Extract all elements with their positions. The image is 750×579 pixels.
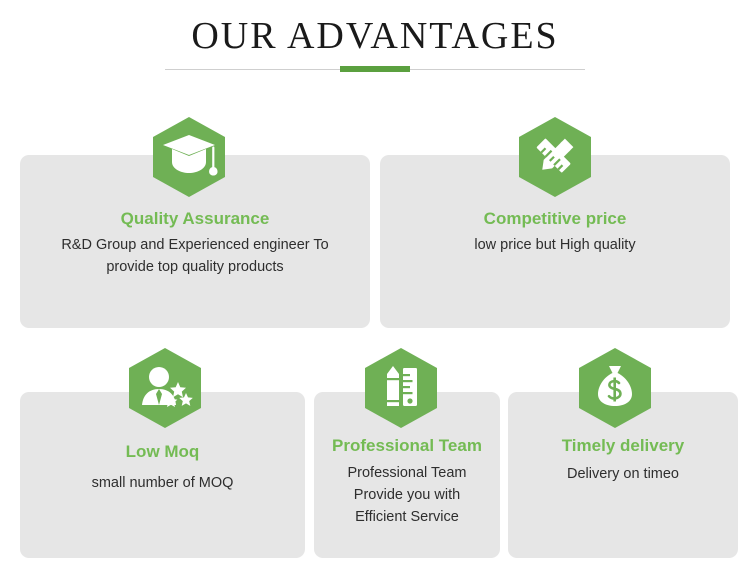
card-description-line: small number of MOQ (20, 472, 305, 494)
card-description-line: low price but High quality (380, 234, 730, 256)
card-title: Quality Assurance (20, 208, 370, 230)
card-description: Delivery on timeo (508, 463, 738, 485)
pencil-ruler-vertical-icon (365, 348, 437, 428)
pencil-ruler-crossed-icon (519, 117, 591, 197)
page-title: OUR ADVANTAGES (0, 14, 750, 58)
card-description-line: Efficient Service (314, 506, 500, 528)
card-description-line: Provide you with (314, 484, 500, 506)
card-title: Low Moq (20, 441, 305, 463)
card-description: low price but High quality (380, 234, 730, 256)
graduation-cap-icon (153, 117, 225, 197)
money-bag-icon (579, 348, 651, 428)
card-description-line: R&D Group and Experienced engineer To (20, 234, 370, 256)
card-title: Timely delivery (508, 435, 738, 457)
title-divider-accent (340, 66, 410, 72)
card-description-line: provide top quality products (20, 256, 370, 278)
card-description-line: Professional Team (314, 462, 500, 484)
person-stars-icon (129, 348, 201, 428)
card-title: Competitive price (380, 208, 730, 230)
card-description-line: Delivery on timeo (508, 463, 738, 485)
card-description: small number of MOQ (20, 472, 305, 494)
page-header: OUR ADVANTAGES (0, 0, 750, 95)
card-description: R&D Group and Experienced engineer To pr… (20, 234, 370, 278)
card-title: Professional Team (314, 435, 500, 457)
card-description: Professional Team Provide you with Effic… (314, 462, 500, 528)
